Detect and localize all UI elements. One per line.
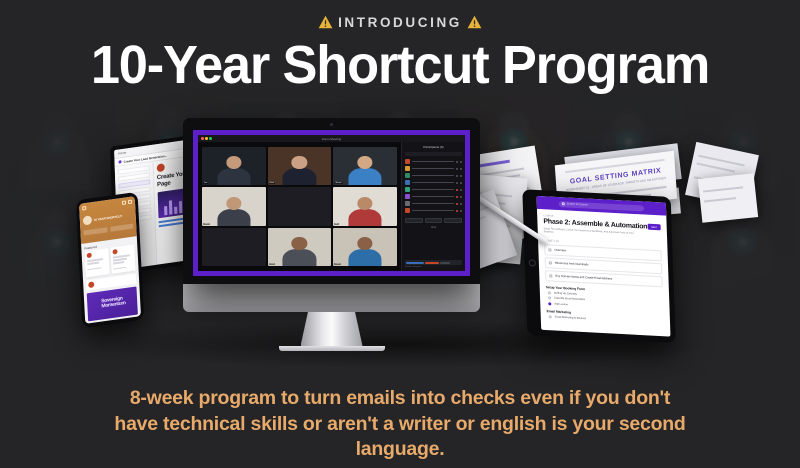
feed-card[interactable] <box>85 248 110 277</box>
search-placeholder: Search for Course <box>567 202 588 206</box>
participant-name: Jon <box>203 182 208 184</box>
participant-name: Chris <box>269 263 276 265</box>
invite-button[interactable] <box>83 227 107 235</box>
video-tile[interactable]: Mark <box>268 147 332 185</box>
course-icon <box>118 160 121 163</box>
avatar <box>405 208 410 213</box>
group-name: 10 YEAR SHORTCUT <box>94 214 122 222</box>
video-tile-empty[interactable] <box>268 187 332 225</box>
participant-name <box>412 175 454 177</box>
video-icon[interactable] <box>460 210 462 212</box>
phone-mockup: 10 YEAR SHORTCUT Featured <box>76 192 144 328</box>
avatar <box>87 253 92 259</box>
video-tile[interactable]: Chris <box>268 228 332 266</box>
chat-input[interactable] <box>405 260 462 265</box>
window-titlebar: Zoom Meeting <box>198 135 465 142</box>
participant-name <box>412 168 454 170</box>
video-icon[interactable] <box>460 175 462 177</box>
participant-row[interactable] <box>405 173 462 178</box>
participant-name <box>412 189 454 191</box>
sub-lesson-label: Email Marketing to Booked <box>555 316 586 321</box>
window-title: Zoom Meeting <box>198 137 465 141</box>
imac-bezel: Zoom Meeting Jon <box>183 118 480 284</box>
video-icon[interactable] <box>460 196 462 198</box>
avatar <box>405 166 410 171</box>
participant-row[interactable] <box>405 187 462 192</box>
imac-mockup: Zoom Meeting Jon <box>183 118 480 351</box>
menu-icon[interactable] <box>82 206 86 211</box>
mic-icon[interactable] <box>456 182 458 184</box>
community-header: 10 YEAR SHORTCUT <box>79 196 137 244</box>
video-tile-empty[interactable] <box>202 228 266 266</box>
avatar <box>405 194 410 199</box>
video-tile[interactable]: Tasha <box>202 187 266 225</box>
tablet-mockup: Search for Course Start COURSE Phase 2: … <box>522 189 675 343</box>
sub-lesson-label: Add Lesson <box>554 303 568 307</box>
warning-triangle-icon <box>318 15 333 29</box>
participant-row[interactable] <box>405 180 462 185</box>
participant-row[interactable] <box>405 208 462 213</box>
mic-icon[interactable] <box>456 168 458 170</box>
avatar <box>156 163 164 172</box>
lesson-item-label: Buy Domain Name and Create Email Address <box>555 274 612 281</box>
mic-muted-icon[interactable] <box>456 196 458 198</box>
radio-icon[interactable] <box>548 297 551 300</box>
participant-name <box>412 161 454 163</box>
participant-row[interactable] <box>405 166 462 171</box>
participants-search-input[interactable] <box>405 152 462 156</box>
phone-screen: 10 YEAR SHORTCUT Featured <box>79 196 141 324</box>
avatar <box>88 281 94 288</box>
start-button[interactable]: Start <box>647 224 661 231</box>
banner-title: Sovereign Momentum <box>101 294 137 309</box>
avatar <box>405 173 410 178</box>
video-tile[interactable]: Dawn <box>333 228 397 266</box>
worksheet-paper <box>698 173 758 223</box>
video-gallery: Jon Mark Steven <box>198 142 401 271</box>
participant-name <box>412 210 454 212</box>
participant-name <box>412 182 454 184</box>
webcam-icon <box>330 123 333 126</box>
warning-triangle-icon <box>467 15 482 29</box>
participant-row[interactable] <box>405 159 462 164</box>
mic-muted-icon[interactable] <box>456 189 458 191</box>
promo-hero-stage: GOAL SETTING MATRIX WORKSHEET 01 - AREAS… <box>0 0 800 468</box>
hero-subheadline: 8-week program to turn emails into check… <box>110 386 690 463</box>
participant-name <box>412 196 454 198</box>
feed-card[interactable] <box>110 245 135 274</box>
browser-home-label: Home <box>118 150 126 155</box>
lesson-item-label: Overview <box>554 248 566 253</box>
video-icon[interactable] <box>460 189 462 191</box>
video-icon[interactable] <box>460 168 462 170</box>
avatar <box>112 249 117 255</box>
video-icon[interactable] <box>460 203 462 205</box>
participant-name: Ali <box>334 223 338 225</box>
search-icon <box>562 202 565 205</box>
video-grid: Jon Mark Steven <box>202 147 397 266</box>
mic-icon[interactable] <box>456 161 458 163</box>
sub-lesson-label: Calendly Email Automation <box>554 297 585 302</box>
participant-name: Tasha <box>203 223 210 225</box>
mute-all-button[interactable] <box>425 218 443 223</box>
checkbox-icon[interactable] <box>549 274 552 277</box>
invite-button[interactable] <box>405 218 423 223</box>
avatar <box>405 187 410 192</box>
mic-muted-icon[interactable] <box>456 203 458 205</box>
participant-row[interactable] <box>405 194 462 199</box>
participant-name: Dawn <box>334 263 341 265</box>
checkbox-icon[interactable] <box>548 248 551 251</box>
radio-icon-selected[interactable] <box>548 302 551 305</box>
video-tile[interactable]: Steven <box>333 147 397 185</box>
lesson-item-label: Resources And Downloads <box>555 261 589 267</box>
imac-stand-neck <box>301 312 363 346</box>
imac-chin <box>183 284 480 312</box>
avatar <box>405 180 410 185</box>
radio-icon[interactable] <box>548 291 551 294</box>
imac-screen: Zoom Meeting Jon <box>193 130 470 276</box>
more-button[interactable] <box>444 218 462 223</box>
chat-send-to-note: Send to: Everyone <box>405 266 462 268</box>
participant-name: Steven <box>334 182 342 184</box>
video-tile[interactable]: Ali <box>333 187 397 225</box>
participant-name: Mark <box>269 182 275 184</box>
imac-stand-foot <box>279 346 385 351</box>
participants-panel: Participants (9) <box>401 142 465 271</box>
introducing-eyebrow: INTRODUCING <box>0 13 800 31</box>
avatar <box>405 159 410 164</box>
mic-icon[interactable] <box>456 175 458 177</box>
participant-row[interactable] <box>405 201 462 206</box>
search-icon[interactable] <box>122 200 126 205</box>
hero-header: INTRODUCING 10-Year Shortcut Program <box>0 0 800 93</box>
promo-banner[interactable]: Sovereign Momentum <box>87 286 138 321</box>
ask-question-button[interactable] <box>110 224 134 232</box>
video-icon[interactable] <box>460 182 462 184</box>
checkbox-icon[interactable] <box>549 261 552 264</box>
radio-icon[interactable] <box>549 315 552 318</box>
group-logo <box>83 215 92 225</box>
search-input[interactable]: Search for Course <box>559 201 645 211</box>
sub-lesson-label: Setting Up Calendly <box>554 292 577 296</box>
zoom-meeting-window: Zoom Meeting Jon <box>198 135 465 271</box>
home-button-icon[interactable] <box>529 259 536 266</box>
bell-icon[interactable] <box>128 200 132 205</box>
participants-panel-title: Participants (9) <box>405 145 462 149</box>
avatar <box>405 201 410 206</box>
page-title: 10-Year Shortcut Program <box>12 38 788 93</box>
video-tile[interactable]: Jon <box>202 147 266 185</box>
tablet-screen: Search for Course Start COURSE Phase 2: … <box>537 196 671 337</box>
video-icon[interactable] <box>460 161 462 163</box>
introducing-label: INTRODUCING <box>338 15 462 30</box>
mic-muted-icon[interactable] <box>456 210 458 212</box>
participant-name <box>412 203 454 205</box>
